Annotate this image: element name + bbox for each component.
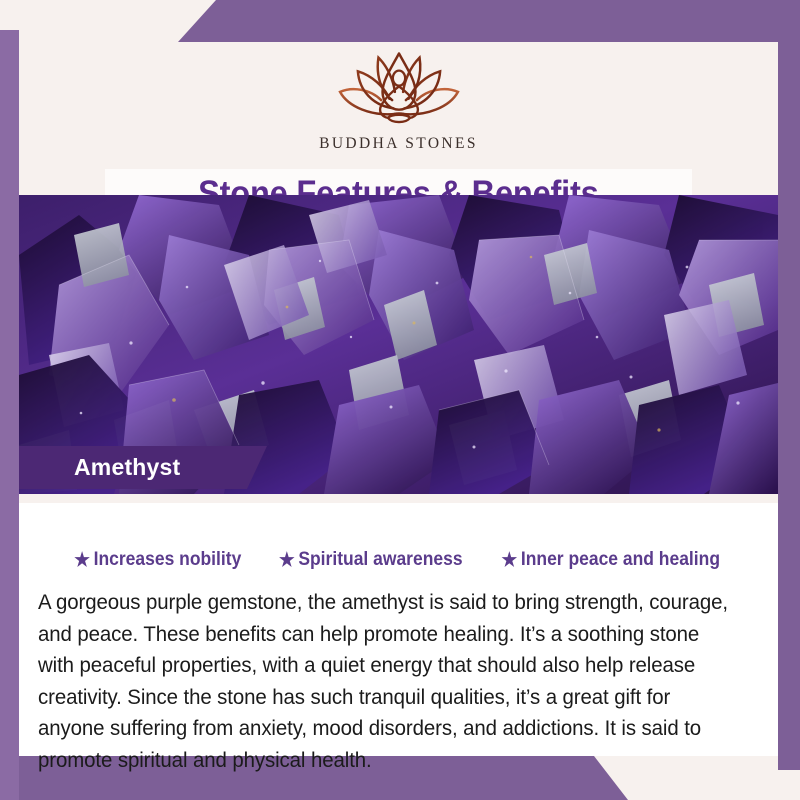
lotus-meditating-figure-icon bbox=[330, 48, 468, 133]
brand-header: BUDDHA STONES bbox=[19, 42, 778, 187]
benefit-label: Inner peace and healing bbox=[521, 549, 720, 571]
poster-root: BUDDHA STONES Stone Features & Benefits bbox=[0, 0, 800, 800]
description-text: A gorgeous purple gemstone, the amethyst… bbox=[38, 587, 728, 776]
benefit-label: Spiritual awareness bbox=[298, 549, 462, 571]
star-icon: ★ bbox=[502, 551, 518, 570]
description-panel: ★ Increases nobility ★ Spiritual awarene… bbox=[19, 494, 778, 756]
benefit-item-1: ★ Increases nobility bbox=[74, 549, 241, 571]
frame-left-bar bbox=[0, 30, 19, 800]
benefit-item-3: ★ Inner peace and healing bbox=[502, 549, 721, 571]
benefit-item-2: ★ Spiritual awareness bbox=[279, 549, 463, 571]
star-icon: ★ bbox=[74, 551, 90, 570]
frame-top-bar bbox=[0, 0, 800, 42]
panel-divider bbox=[19, 494, 778, 503]
brand-name: BUDDHA STONES bbox=[299, 135, 499, 153]
logo: BUDDHA STONES bbox=[299, 48, 499, 153]
benefit-label: Increases nobility bbox=[94, 549, 242, 571]
benefits-list: ★ Increases nobility ★ Spiritual awarene… bbox=[19, 549, 778, 571]
frame-right-bar bbox=[778, 0, 800, 770]
star-icon: ★ bbox=[279, 551, 295, 570]
content-card: BUDDHA STONES Stone Features & Benefits bbox=[19, 42, 778, 756]
stone-name-banner: Amethyst bbox=[19, 446, 267, 489]
stone-name: Amethyst bbox=[19, 454, 180, 481]
